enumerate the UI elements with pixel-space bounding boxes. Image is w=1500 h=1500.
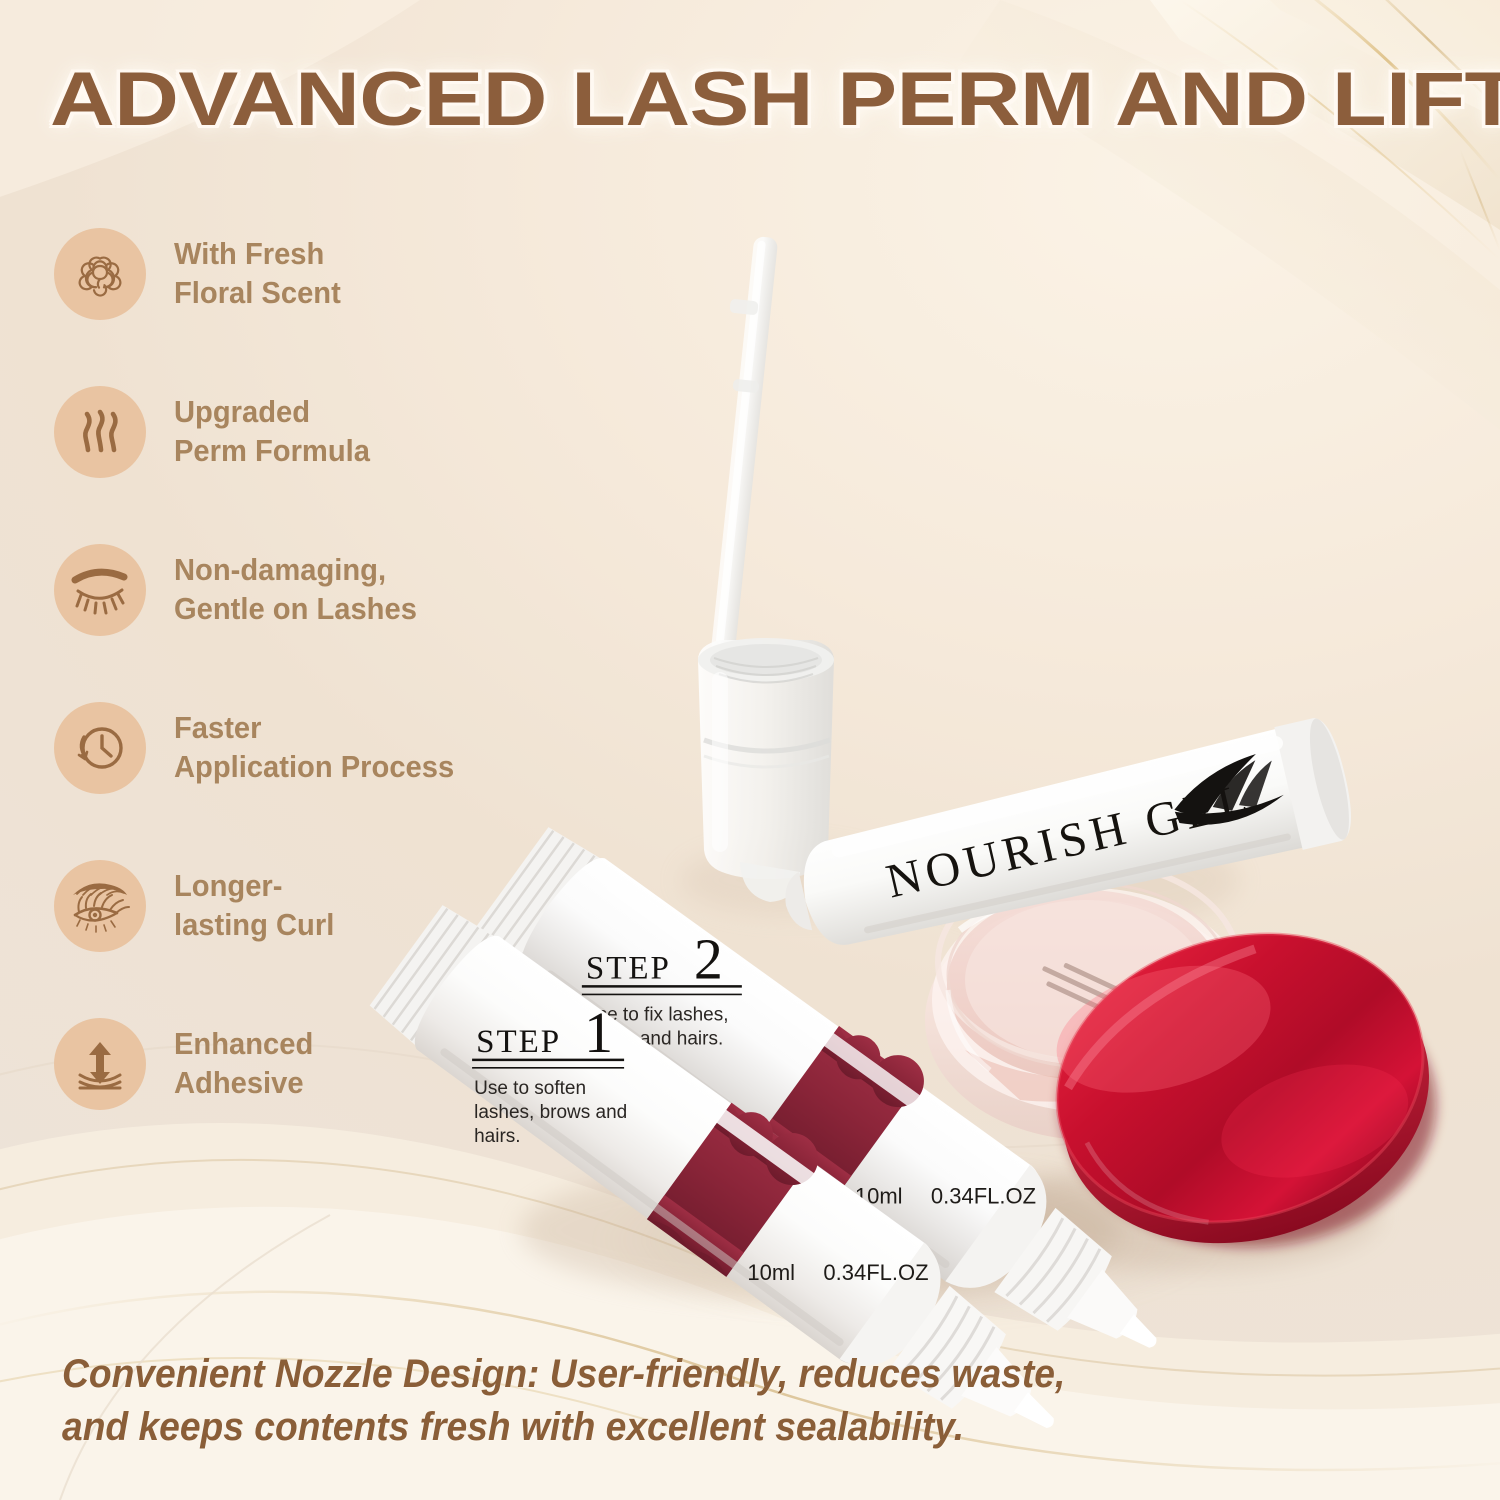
feature-label: Non-damaging, Gentle on Lashes <box>174 550 456 628</box>
feature-label: Upgraded Perm Formula <box>174 392 456 470</box>
feature-label: Enhanced Adhesive <box>174 1024 456 1102</box>
feature-label: Faster Application Process <box>174 708 456 786</box>
feature-icon-circle <box>54 860 146 952</box>
feature-item: Faster Application Process <box>52 702 472 802</box>
feature-label: With Fresh Floral Scent <box>174 234 456 312</box>
feature-icon-circle <box>54 544 146 636</box>
perm-waves-icon <box>71 403 129 461</box>
adhesive-arrow-icon <box>71 1035 129 1093</box>
closed-eye-lashes-icon <box>68 560 132 620</box>
bottom-caption: Convenient Nozzle Design: User-friendly,… <box>62 1348 1104 1454</box>
feature-item: Longer- lasting Curl <box>52 860 472 960</box>
feature-icon-circle <box>54 1018 146 1110</box>
feature-icon-circle <box>54 702 146 794</box>
rose-flower-icon <box>70 244 130 304</box>
feature-list: With Fresh Floral Scent Upgraded Perm Fo… <box>52 228 472 1176</box>
page-title: ADVANCED LASH PERM AND LIFT SOLUTION <box>50 62 1500 138</box>
feature-icon-circle <box>54 228 146 320</box>
product-drop-shadow <box>470 1120 1350 1360</box>
curled-lash-eye-icon <box>67 875 133 937</box>
feature-icon-circle <box>54 386 146 478</box>
feature-item: Enhanced Adhesive <box>52 1018 472 1118</box>
feature-item: Upgraded Perm Formula <box>52 386 472 486</box>
product-infographic: ADVANCED LASH PERM AND LIFT SOLUTION <box>0 0 1500 1500</box>
feature-item: Non-damaging, Gentle on Lashes <box>52 544 472 644</box>
feature-item: With Fresh Floral Scent <box>52 228 472 328</box>
feature-label: Longer- lasting Curl <box>174 866 456 944</box>
clock-fast-icon <box>70 718 130 778</box>
